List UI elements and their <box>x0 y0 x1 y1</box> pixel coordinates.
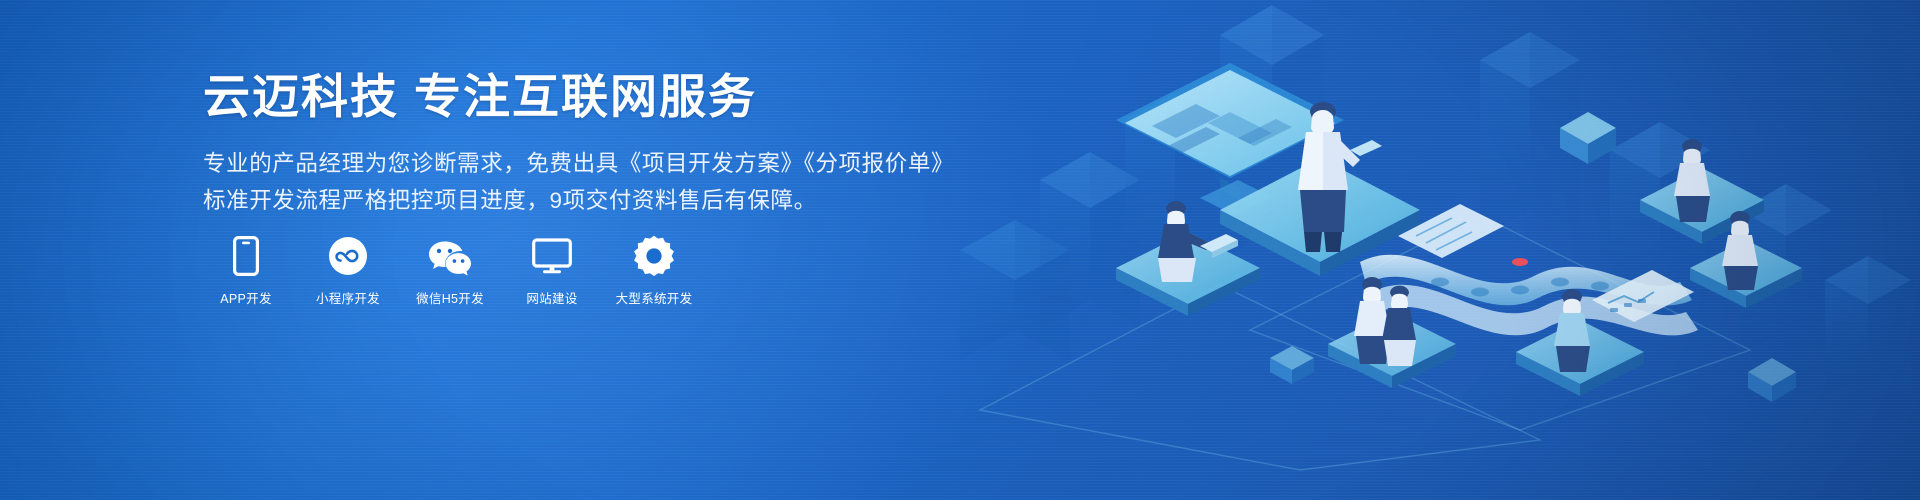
service-label: APP开发 <box>220 288 272 307</box>
service-item-wechat-h5[interactable]: 微信H5开发 <box>410 234 490 307</box>
subtitle-line-1: 专业的产品经理为您诊断需求，免费出具《项目开发方案》《分项报价单》 <box>203 146 903 182</box>
service-item-app[interactable]: APP开发 <box>206 234 286 307</box>
page-title: 云迈科技 专注互联网服务 <box>203 68 903 125</box>
gear-icon <box>633 234 675 278</box>
service-label: 大型系统开发 <box>616 288 693 307</box>
isometric-illustration <box>920 0 1920 500</box>
subtitle-line-2: 标准开发流程严格把控项目进度，9项交付资料售后有保障。 <box>203 183 903 219</box>
service-item-website[interactable]: 网站建设 <box>512 234 592 307</box>
service-item-miniprogram[interactable]: 小程序开发 <box>308 234 388 307</box>
phone-icon <box>233 234 259 278</box>
service-label: 小程序开发 <box>316 288 380 307</box>
hero-subtitle: 专业的产品经理为您诊断需求，免费出具《项目开发方案》《分项报价单》 标准开发流程… <box>203 146 903 219</box>
miniprogram-icon <box>328 234 368 278</box>
service-item-system[interactable]: 大型系统开发 <box>614 234 694 307</box>
monitor-icon <box>532 234 572 278</box>
service-list: APP开发 小程序开发 微信 <box>206 234 694 307</box>
wechat-icon <box>426 234 474 278</box>
service-label: 网站建设 <box>526 288 577 307</box>
hero-copy: 云迈科技 专注互联网服务 专业的产品经理为您诊断需求，免费出具《项目开发方案》《… <box>203 68 903 219</box>
service-label: 微信H5开发 <box>416 288 484 307</box>
hero-banner: 云迈科技 专注互联网服务 专业的产品经理为您诊断需求，免费出具《项目开发方案》《… <box>0 0 1920 500</box>
